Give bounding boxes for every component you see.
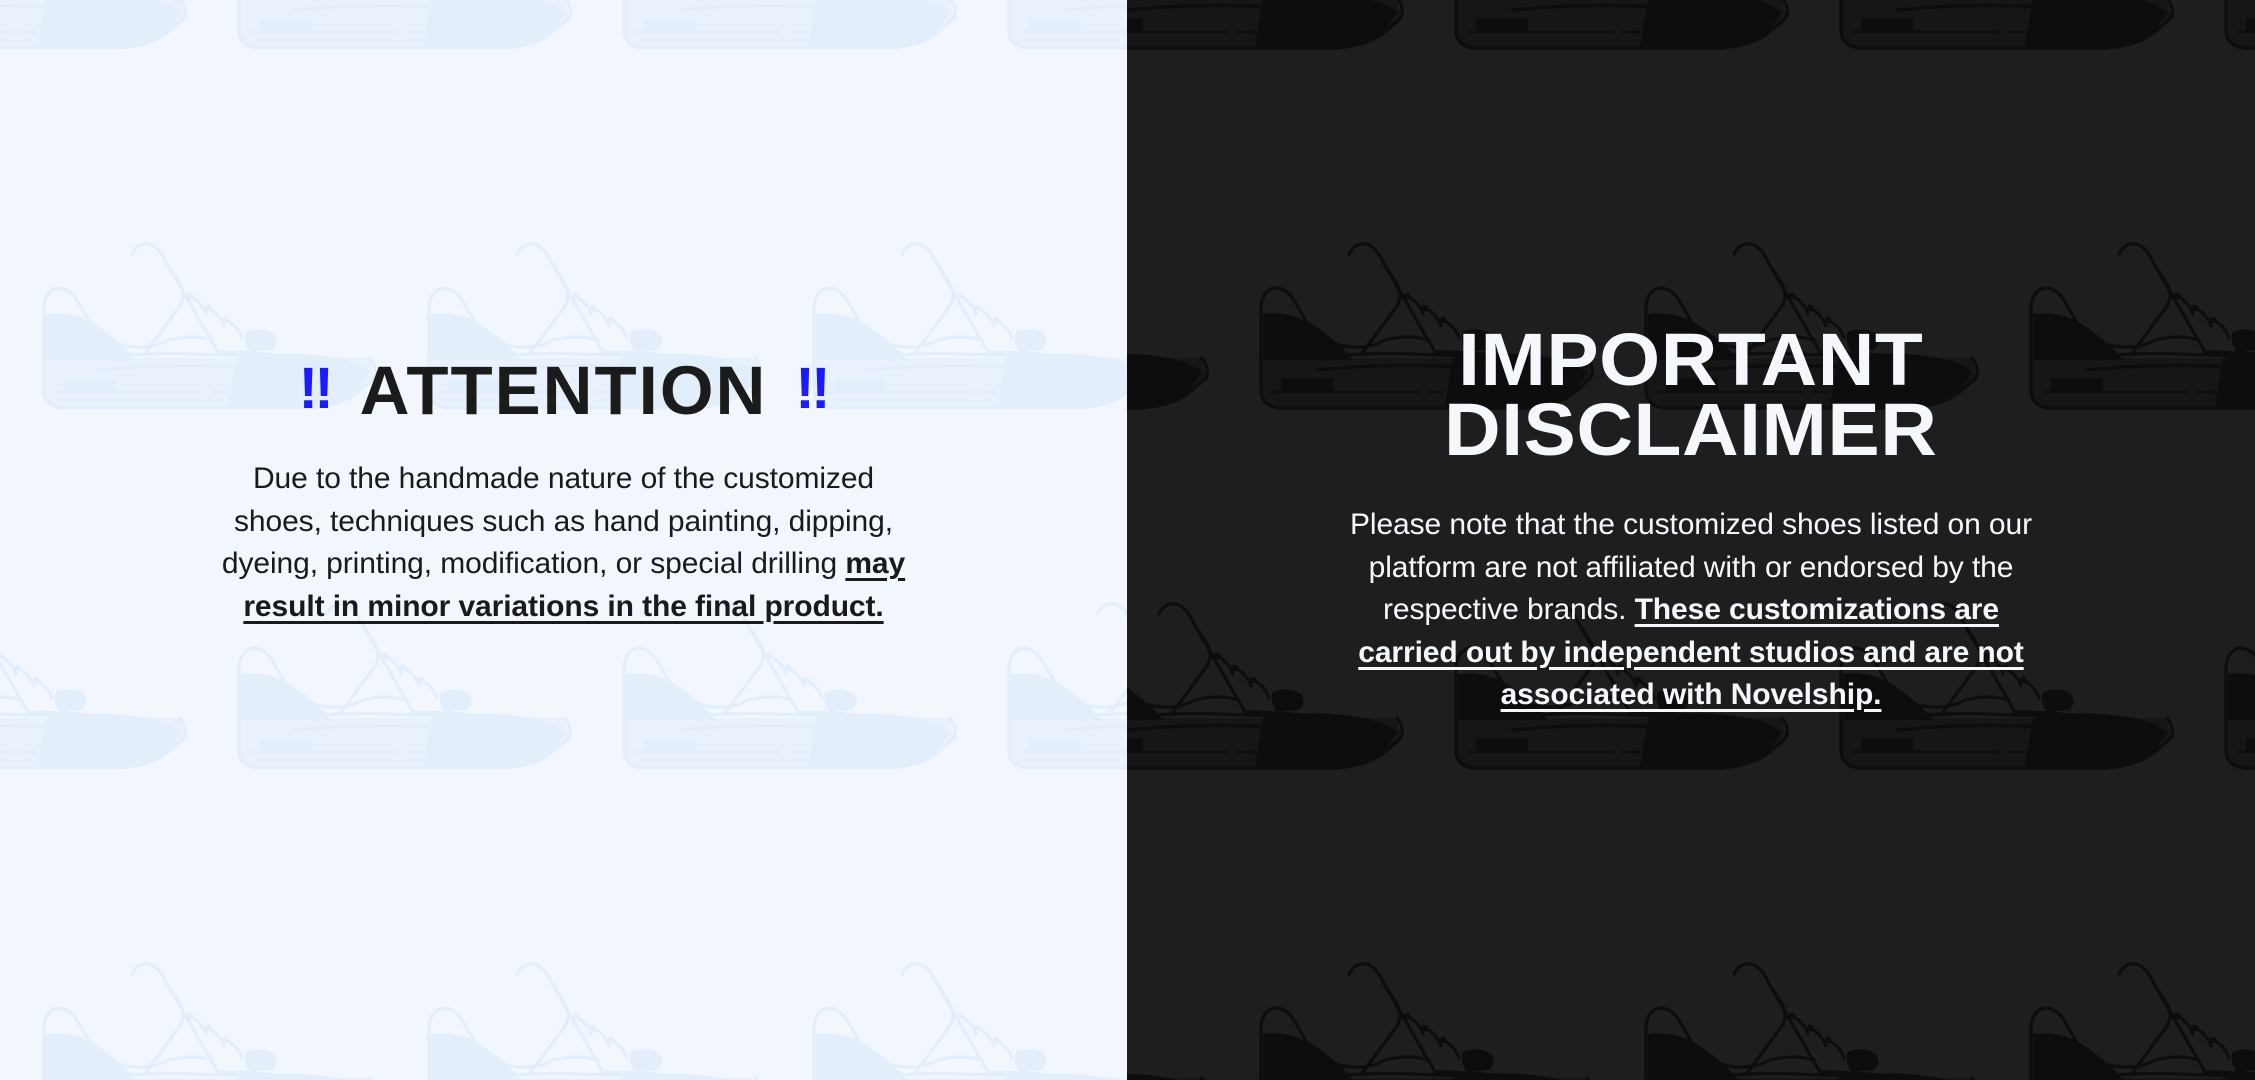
attention-headline-word: ATTENTION [360, 358, 768, 424]
attention-body-normal: Due to the handmade nature of the custom… [222, 462, 893, 580]
attention-headline: ‼ ATTENTION ‼ [299, 358, 829, 424]
double-exclamation-icon: ‼ [299, 360, 332, 418]
split-banner: ‼ ATTENTION ‼ Due to the handmade nature… [0, 0, 2255, 1080]
attention-body: Due to the handmade nature of the custom… [214, 458, 914, 628]
attention-panel: ‼ ATTENTION ‼ Due to the handmade nature… [0, 0, 1127, 1080]
disclaimer-headline-line-2: DISCLAIMER [1444, 395, 1937, 465]
double-exclamation-icon-right: ‼ [795, 360, 828, 418]
disclaimer-body: Please note that the customized shoes li… [1332, 504, 2050, 717]
disclaimer-headline-line-1: IMPORTANT [1444, 325, 1937, 395]
disclaimer-headline: IMPORTANT DISCLAIMER [1444, 325, 1937, 464]
disclaimer-panel: IMPORTANT DISCLAIMER Please note that th… [1127, 0, 2255, 1080]
